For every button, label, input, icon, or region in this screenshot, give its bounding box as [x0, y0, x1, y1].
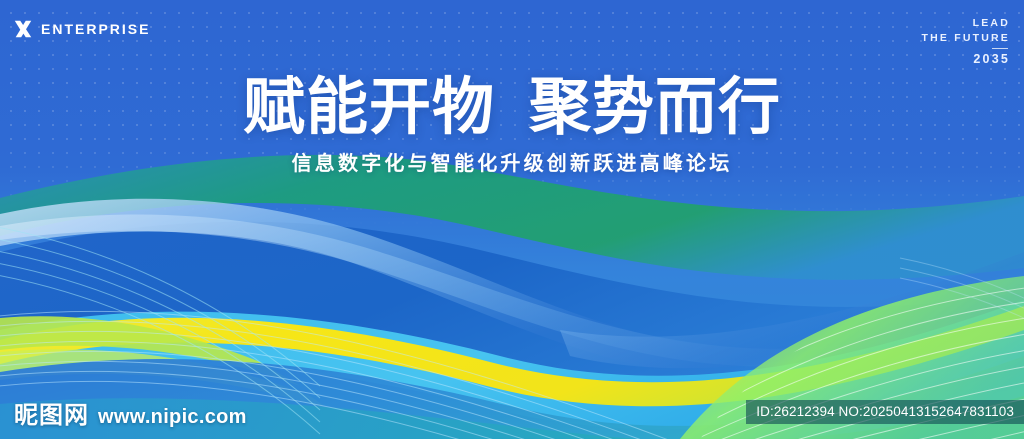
x-mark-icon — [12, 18, 34, 40]
poster-canvas: ENTERPRISE LEAD THE FUTURE 2035 赋能开物聚势而行… — [0, 0, 1024, 439]
watermark: 昵图网 www.nipic.com — [14, 395, 247, 430]
tagline-line-1: LEAD — [922, 16, 1011, 31]
asset-id-badge: ID:26212394 NO:20250413152647831103 — [746, 400, 1024, 424]
page-subtitle: 信息数字化与智能化升级创新跃进高峰论坛 — [0, 150, 1024, 178]
headline-part-2: 聚势而行 — [529, 73, 781, 142]
tagline-year: 2035 — [922, 51, 1011, 67]
tagline-line-2: THE FUTURE — [922, 31, 1011, 46]
corner-tagline: LEAD THE FUTURE 2035 — [922, 16, 1011, 67]
headline-part-1: 赋能开物 — [243, 73, 495, 142]
watermark-site-url: www.nipic.com — [98, 406, 247, 429]
page-title: 赋能开物聚势而行 — [0, 74, 1024, 142]
brand-logo[interactable]: ENTERPRISE — [12, 18, 150, 40]
brand-name: ENTERPRISE — [41, 18, 150, 40]
watermark-site-name: 昵图网 — [14, 395, 89, 430]
tagline-divider — [992, 48, 1008, 49]
wave-artwork — [0, 0, 1024, 439]
